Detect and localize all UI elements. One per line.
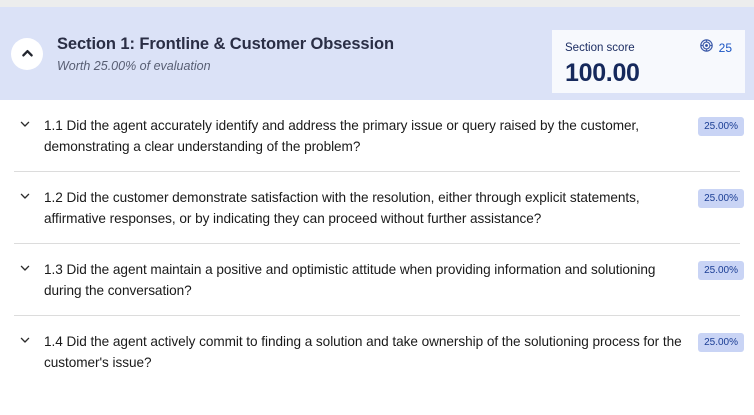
question-weight-badge: 25.00% [698, 189, 744, 208]
question-weight-badge: 25.00% [698, 261, 744, 280]
question-row[interactable]: 1.1 Did the agent accurately identify an… [0, 100, 754, 171]
chevron-down-icon [19, 334, 31, 346]
section-title: Section 1: Frontline & Customer Obsessio… [57, 34, 394, 54]
section-weight-value: 25 [719, 41, 732, 55]
top-edge-strip [0, 0, 754, 7]
target-icon [700, 39, 713, 57]
section-score-value: 100.00 [565, 58, 732, 88]
section-header[interactable]: Section 1: Frontline & Customer Obsessio… [0, 7, 754, 100]
evaluation-section-panel: Section 1: Frontline & Customer Obsessio… [0, 0, 754, 415]
question-text: 1.2 Did the customer demonstrate satisfa… [44, 187, 684, 229]
chevron-down-icon [19, 190, 31, 202]
section-score-label: Section score [565, 41, 635, 55]
question-text: 1.4 Did the agent actively commit to fin… [44, 331, 684, 373]
question-expand-toggle[interactable] [18, 118, 32, 130]
question-text: 1.3 Did the agent maintain a positive an… [44, 259, 684, 301]
question-row[interactable]: 1.2 Did the customer demonstrate satisfa… [0, 172, 754, 243]
chevron-down-icon [19, 118, 31, 130]
section-subtitle: Worth 25.00% of evaluation [57, 58, 394, 74]
question-weight-badge: 25.00% [698, 117, 744, 136]
question-text: 1.1 Did the agent accurately identify an… [44, 115, 684, 157]
section-collapse-button[interactable] [11, 38, 43, 70]
question-expand-toggle[interactable] [18, 190, 32, 202]
score-card-top-row: Section score 25 [565, 39, 732, 57]
section-weight-group: 25 [700, 39, 732, 57]
chevron-down-icon [19, 262, 31, 274]
question-expand-toggle[interactable] [18, 334, 32, 346]
question-row[interactable]: 1.4 Did the agent actively commit to fin… [0, 316, 754, 387]
question-weight-badge: 25.00% [698, 333, 744, 352]
chevron-up-icon [20, 46, 35, 61]
section-title-group: Section 1: Frontline & Customer Obsessio… [57, 34, 394, 74]
question-row[interactable]: 1.3 Did the agent maintain a positive an… [0, 244, 754, 315]
question-expand-toggle[interactable] [18, 262, 32, 274]
section-score-card: Section score 25 100.00 [552, 30, 745, 93]
question-list: 1.1 Did the agent accurately identify an… [0, 100, 754, 387]
